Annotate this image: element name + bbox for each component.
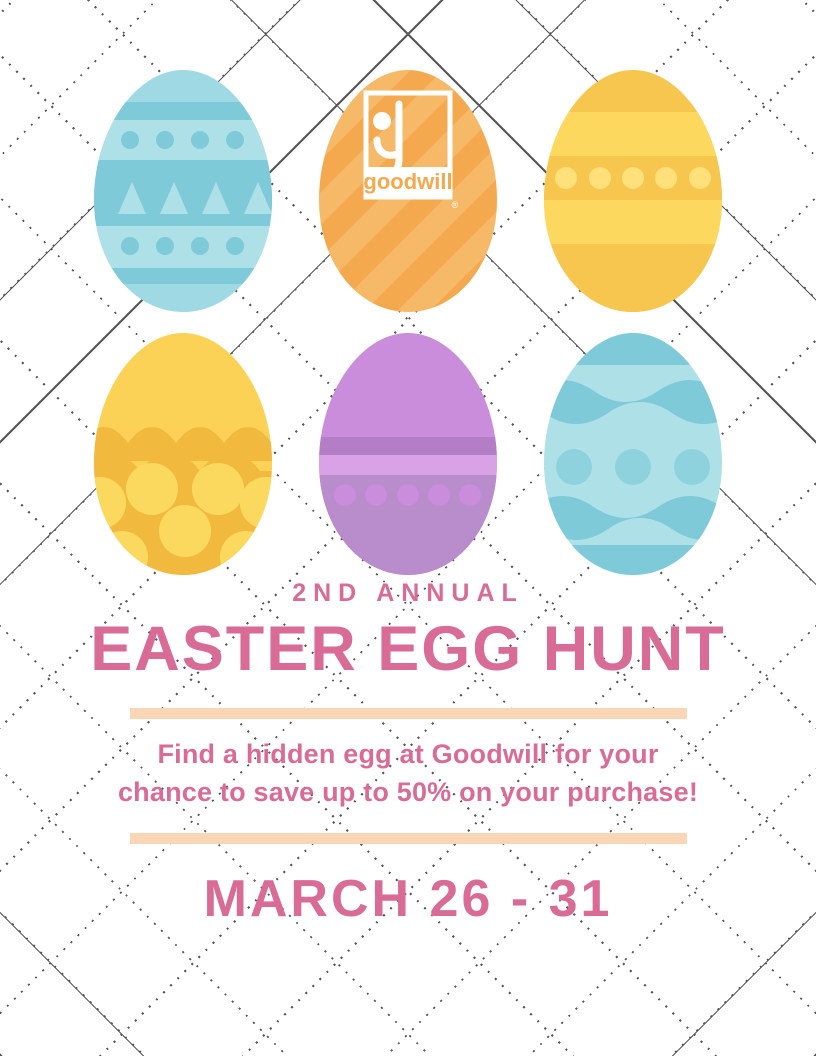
divider-bar-bottom <box>130 833 687 844</box>
page-title: EASTER EGG HUNT <box>0 616 816 682</box>
purple-striped-egg-icon <box>315 331 501 577</box>
blue-wavy-egg-icon <box>540 331 726 577</box>
body-copy: Find a hidden egg at Goodwill for your c… <box>38 735 778 812</box>
kicker-text: 2ND ANNUAL <box>0 580 816 608</box>
yellow-striped-egg-icon <box>540 68 726 314</box>
orange-goodwill-egg-icon: goodwill ® <box>315 68 501 314</box>
egg-blue-wavy <box>533 325 732 582</box>
egg-illustration-grid: goodwill ® <box>84 62 732 582</box>
body-copy-line-1: Find a hidden egg at Goodwill for your <box>38 735 778 773</box>
egg-blue-striped <box>84 62 283 319</box>
easter-egg-hunt-flyer: goodwill ® <box>0 0 816 1056</box>
egg-orange-goodwill: goodwill ® <box>309 62 508 319</box>
blue-striped-egg-icon <box>90 68 276 314</box>
divider-bar-top <box>130 708 687 719</box>
egg-purple-striped <box>309 325 508 582</box>
goodwill-wordmark: goodwill <box>363 169 452 194</box>
yellow-scalloped-egg-icon <box>90 331 276 577</box>
body-copy-line-2: chance to save up to 50% on your purchas… <box>38 773 778 811</box>
goodwill-trademark-icon: ® <box>452 200 459 210</box>
flyer-text-block: 2ND ANNUAL EASTER EGG HUNT Find a hidden… <box>0 580 816 927</box>
egg-yellow-striped <box>533 62 732 319</box>
event-dateline: MARCH 26 - 31 <box>0 872 816 927</box>
egg-yellow-scalloped <box>84 325 283 582</box>
